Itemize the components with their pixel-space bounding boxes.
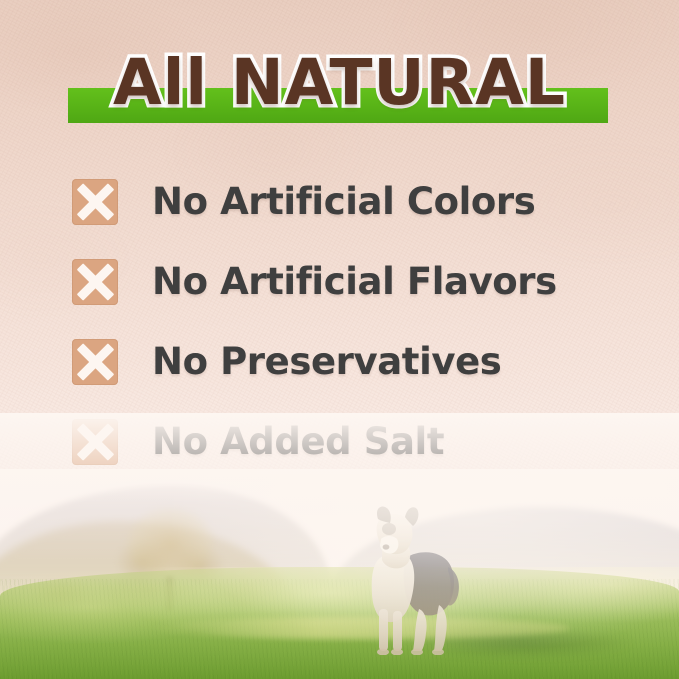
feature-label: No Preservatives bbox=[152, 339, 501, 385]
feature-item-no-added-salt: No Added Salt bbox=[72, 416, 632, 468]
feature-item-no-artificial-flavors: No Artificial Flavors bbox=[72, 256, 632, 308]
landscape-photo bbox=[0, 469, 679, 679]
x-mark-icon bbox=[72, 259, 118, 305]
x-mark-icon bbox=[72, 419, 118, 465]
x-mark-icon bbox=[72, 179, 118, 225]
x-mark-icon bbox=[72, 339, 118, 385]
poster-title: All NATURAL bbox=[0, 47, 679, 119]
product-feature-poster: All NATURAL No Artificial Colors No Arti… bbox=[0, 0, 679, 679]
feature-item-no-artificial-colors: No Artificial Colors bbox=[72, 176, 632, 228]
feature-label: No Artificial Colors bbox=[152, 179, 535, 225]
feature-item-no-preservatives: No Preservatives bbox=[72, 336, 632, 388]
feature-label: No Artificial Flavors bbox=[152, 259, 557, 305]
dog-border-collie bbox=[355, 505, 465, 655]
feature-label: No Added Salt bbox=[152, 419, 444, 465]
feature-list: No Artificial Colors No Artificial Flavo… bbox=[72, 176, 632, 496]
